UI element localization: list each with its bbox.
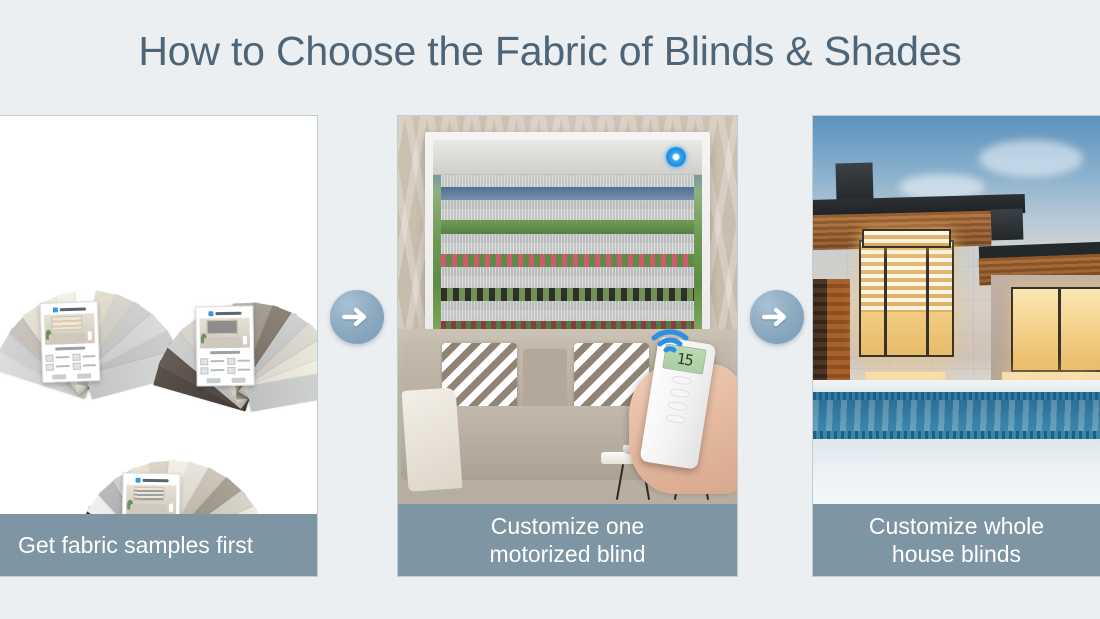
remote-button-up[interactable] [671,375,692,386]
house-exterior-scene [813,116,1100,504]
remote-button-channel[interactable] [665,413,686,424]
panel-3-caption-line-1: Customize whole [869,513,1044,539]
fabric-samples-scene [0,116,317,514]
card-spec-row [227,366,251,373]
panel-2-image: 15 [398,116,737,504]
photo-remote [242,336,247,345]
panel-2-caption: Customize one motorized blind [398,504,737,576]
fabric-fan-top-left [75,386,76,387]
motor-indicator-icon[interactable] [666,147,686,167]
card-spec-row [72,362,96,370]
arrow-right-icon [762,306,792,328]
card-title-rule [210,351,240,354]
zebra-band [441,209,694,243]
photo-window [133,487,164,502]
brand-wordmark [215,311,241,314]
photo-sofa [49,333,86,345]
window-zebra-blinds [861,242,952,312]
remote-button-down[interactable] [667,400,688,411]
card-spec-row [200,358,224,365]
arrow-right-icon [342,306,372,328]
upper-window-transom [862,229,951,248]
table-leg [615,464,623,500]
card-logo [127,477,177,484]
panel-3-caption-line-2: house blinds [892,541,1021,567]
panel-customize-whole-house-blinds[interactable]: Customize whole house blinds [812,115,1100,577]
right-window-lit [1011,287,1100,372]
swimming-pool [813,380,1100,504]
panel-1-image [0,116,317,514]
arrow-step-2-to-3 [750,290,804,344]
card-room-photo [200,318,251,349]
cloud [979,140,1082,177]
blind-headrail [433,140,702,176]
card-spec-row [72,353,96,361]
window-mullion [926,242,929,354]
zebra-band [441,243,694,277]
card-logo [44,305,94,313]
panel-2-caption-line-1: Customize one [491,513,644,539]
infographic-page: How to Choose the Fabric of Blinds & Sha… [0,0,1100,619]
card-spec-row [227,357,251,364]
brand-wordmark [59,307,85,311]
window-zebra-blinds [864,231,949,246]
upper-window-with-blinds [859,240,954,356]
remote-button-stop[interactable] [669,387,690,398]
card-footer [46,371,96,380]
card-room-photo [44,313,95,345]
panel-3-image [813,116,1100,504]
photo-window [51,316,82,332]
panel-get-fabric-samples[interactable]: Get fabric samples first [0,115,318,577]
card-spec-row [45,354,69,362]
photo-remote [87,331,92,340]
panel-customize-one-motorized-blind[interactable]: 15 [397,115,738,577]
throw-blanket [401,387,462,492]
living-room: 15 [398,329,737,504]
panel-3-caption: Customize whole house blinds [813,504,1100,576]
card-logo [199,310,249,317]
card-spec-row [46,363,70,371]
zebra-band [441,175,694,209]
roof-chimney-left [835,162,873,202]
arrow-step-1-to-2 [330,290,384,344]
motorized-blind-scene: 15 [398,116,737,504]
card-spec-rows [200,355,250,374]
brand-mark-icon [208,311,213,316]
photo-sofa [204,337,241,348]
window-mullion [884,242,887,354]
photo-remote [169,504,174,513]
photo-window [207,320,238,335]
brand-wordmark [142,478,168,481]
wifi-signal-icon [650,326,690,354]
card-title-rule [55,347,85,351]
panel-2-caption-line-2: motorized blind [490,541,646,567]
page-title: How to Choose the Fabric of Blinds & Sha… [0,28,1100,75]
card-spec-row [200,367,224,374]
card-spec-rows [45,351,96,371]
card-room-photo [126,485,177,514]
window-mullion [1058,289,1061,370]
fabric-fan-top-right [235,398,236,399]
brand-mark-icon [135,477,140,482]
brand-mark-icon [52,307,57,312]
pool-deck [813,439,1100,504]
fabric-sample-card[interactable] [195,305,254,386]
plain-pillow-center [523,349,567,410]
zebra-band [441,276,694,310]
fabric-sample-card[interactable] [121,472,180,514]
fabric-sample-card[interactable] [40,301,101,383]
pool-tile-band-lower [813,431,1100,440]
photo-sofa [130,504,167,514]
card-footer [201,375,251,383]
pool-water [813,400,1100,432]
panel-1-caption: Get fabric samples first [0,514,317,576]
roof-chimney-right [991,209,1023,241]
